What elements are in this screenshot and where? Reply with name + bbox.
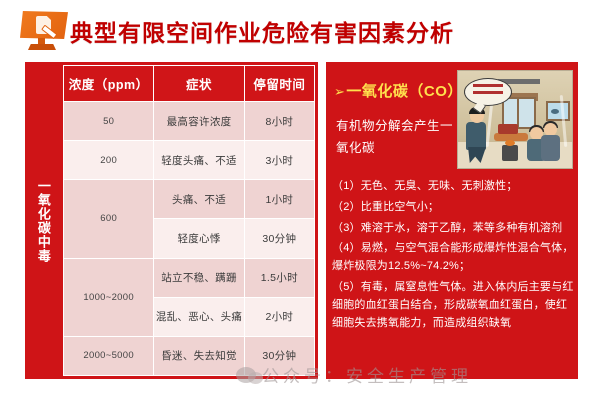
co-concentration-table-block: 一氧化碳中毒 浓度（ppm） 症状 停留时间 50 最高容许浓度 8小时 bbox=[25, 62, 318, 379]
slide-root: 典型有限空间作业危险有害因素分析 一氧化碳中毒 浓度（ppm） 症状 停留时间 … bbox=[0, 0, 600, 400]
list-item: （3）难溶于水，溶于乙醇，苯等多种有机溶剂 bbox=[332, 220, 574, 238]
cell-concentration: 200 bbox=[64, 141, 154, 180]
cartoon-person-body bbox=[541, 135, 560, 161]
table-row: 1000~2000 站立不稳、蹒跚 1.5小时 bbox=[64, 258, 315, 297]
column-header-concentration: 浓度（ppm） bbox=[64, 66, 154, 102]
table-row: 600 头痛、不适 1小时 bbox=[64, 180, 315, 219]
cartoon-man-body bbox=[466, 122, 486, 150]
carbon-monoxide-info-panel: ➢一氧化碳（CO） 有机物分解会产生一氧化碳 bbox=[326, 62, 578, 379]
cartoon-speech-bubble bbox=[464, 78, 512, 106]
column-header-duration: 停留时间 bbox=[244, 66, 314, 102]
cell-duration: 1小时 bbox=[244, 180, 314, 219]
cartoon-stove bbox=[502, 145, 518, 161]
cell-symptom: 站立不稳、蹒跚 bbox=[154, 258, 244, 297]
panel-property-list: （1）无色、无臭、无味、无刺激性； （2）比重比空气小； （3）难溶于水，溶于乙… bbox=[332, 178, 574, 336]
monitor-neck-shape bbox=[38, 38, 45, 45]
carbon-monoxide-poisoning-cartoon bbox=[457, 70, 573, 169]
cell-duration: 3小时 bbox=[244, 141, 314, 180]
list-item: （1）无色、无臭、无味、无刺激性； bbox=[332, 178, 574, 196]
column-header-symptom: 症状 bbox=[154, 66, 244, 102]
table-row: 200 轻度头痛、不适 3小时 bbox=[64, 141, 315, 180]
panel-subtitle: 有机物分解会产生一氧化碳 bbox=[336, 116, 458, 160]
table-side-label-text: 一氧化碳中毒 bbox=[35, 179, 50, 263]
list-item: （5）有毒，属窒息性气体。进入体内后主要与红细胞的血红蛋白结合，形成碳氧血红蛋白… bbox=[332, 279, 574, 332]
table-row: 50 最高容许浓度 8小时 bbox=[64, 102, 315, 141]
cell-duration: 1.5小时 bbox=[244, 258, 314, 297]
cell-concentration: 1000~2000 bbox=[64, 258, 154, 336]
cell-duration: 2小时 bbox=[244, 297, 314, 336]
table-row: 2000~5000 昏迷、失去知觉 30分钟 bbox=[64, 336, 315, 375]
cell-duration: 30分钟 bbox=[244, 336, 314, 375]
cell-concentration: 50 bbox=[64, 102, 154, 141]
table-header-row: 浓度（ppm） 症状 停留时间 bbox=[64, 66, 315, 102]
slide-header: 典型有限空间作业危险有害因素分析 bbox=[0, 0, 600, 58]
panel-title-text: 一氧化碳（CO） bbox=[346, 83, 463, 100]
cell-symptom: 最高容许浓度 bbox=[154, 102, 244, 141]
list-item: （4）易燃，与空气混合能形成爆炸性混合气体，爆炸极限为12.5%~74.2%； bbox=[332, 240, 574, 276]
cell-duration: 30分钟 bbox=[244, 219, 314, 258]
cell-duration: 8小时 bbox=[244, 102, 314, 141]
cartoon-box bbox=[498, 124, 518, 134]
panel-title: ➢一氧化碳（CO） bbox=[334, 80, 463, 101]
monitor-base-shape bbox=[28, 44, 56, 50]
table-side-label: 一氧化碳中毒 bbox=[25, 62, 60, 379]
cell-concentration: 2000~5000 bbox=[64, 336, 154, 375]
arrow-bullet-icon: ➢ bbox=[334, 84, 345, 99]
cell-symptom: 头痛、不适 bbox=[154, 180, 244, 219]
monitor-document-icon bbox=[16, 11, 68, 51]
cartoon-picture-frame bbox=[546, 101, 570, 121]
co-concentration-table: 浓度（ppm） 症状 停留时间 50 最高容许浓度 8小时 200 轻度头痛、不… bbox=[63, 65, 315, 376]
cell-symptom: 混乱、恶心、头痛 bbox=[154, 297, 244, 336]
cell-symptom: 轻度头痛、不适 bbox=[154, 141, 244, 180]
page-title: 典型有限空间作业危险有害因素分析 bbox=[70, 14, 454, 48]
cell-symptom: 昏迷、失去知觉 bbox=[154, 336, 244, 375]
cell-symptom: 轻度心悸 bbox=[154, 219, 244, 258]
list-item: （2）比重比空气小； bbox=[332, 199, 574, 217]
cell-concentration: 600 bbox=[64, 180, 154, 258]
